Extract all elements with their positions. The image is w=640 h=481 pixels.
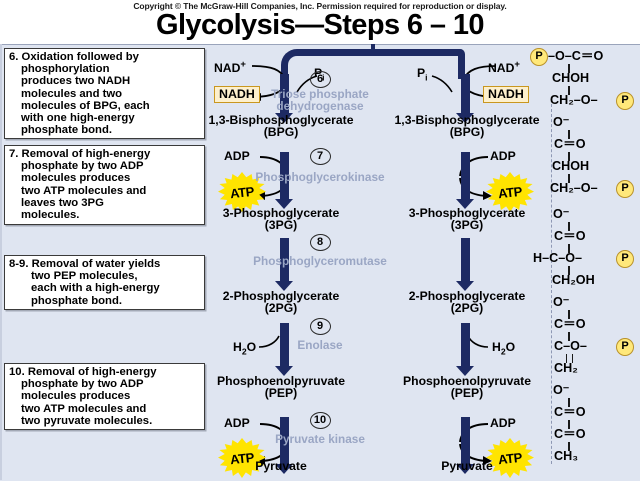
adp-step10-right: ADP — [490, 417, 516, 429]
step-number-9: 9 — [240, 316, 400, 335]
chemical-structures-column: P –O–C＝O CHOH CH₂–O– P O⁻ C＝O CHOH CH₂–O… — [528, 44, 640, 480]
metabolite-bpg-right: 1,3-Bisphosphoglycerate (BPG) — [382, 114, 552, 138]
pg3-row-4: CH₂–O– — [550, 182, 598, 195]
step-number-10: 10 — [240, 410, 400, 429]
step-number-7: 7 — [240, 146, 400, 165]
arrow-step9-right — [461, 323, 470, 367]
pyr-row-3: C＝O — [554, 428, 585, 441]
metabolite-bpg-left: 1,3-Bisphosphoglycerate (BPG) — [196, 114, 366, 138]
metabolite-3pg-right: 3-Phosphoglycerate (3PG) — [382, 207, 552, 231]
enzyme-label-8: Phosphoglyceromutase — [205, 255, 435, 267]
pg2-row-2: C＝O — [554, 230, 585, 243]
arrow-step6-right — [461, 74, 470, 114]
nadh-box-right: NADH — [483, 86, 529, 103]
enzyme-label-9: Enolase — [205, 339, 435, 351]
arrow-step10-right — [461, 417, 470, 465]
metabolite-3pg-left: 3-Phosphoglycerate (3PG) — [196, 207, 366, 231]
arrow-step7-right — [461, 152, 470, 200]
phosphate-icon: P — [616, 92, 634, 110]
glycolysis-diagram: Copyright © The McGraw-Hill Companies, I… — [0, 0, 640, 480]
phosphate-icon: P — [616, 180, 634, 198]
pg3-row-1: O⁻ — [553, 116, 569, 129]
phosphate-icon: P — [530, 48, 548, 66]
bpg-row-3: CH₂–O– — [550, 94, 598, 107]
enzyme-label-6: Triose phosphate dehydrogenase — [205, 88, 435, 112]
water-step9-right: H2O — [492, 341, 515, 356]
pyr-row-4: CH₃ — [554, 450, 578, 463]
pep-row-2: C＝O — [554, 318, 585, 331]
pg2-row-3: H–C–O– — [533, 252, 582, 265]
pep-row-4: CH₂ — [554, 362, 578, 375]
step-number-6: 6 — [240, 69, 400, 88]
pyr-row-2: C＝O — [554, 406, 585, 419]
nad-plus-right: NAD+ — [488, 60, 520, 74]
phosphate-icon: P — [616, 250, 634, 268]
phosphate-icon: P — [616, 338, 634, 356]
pep-row-3: C–O– — [554, 340, 587, 353]
adp-step7-right: ADP — [490, 150, 516, 162]
metabolite-pyruvate-right: Pyruvate — [382, 460, 552, 472]
pg3-row-2: C＝O — [554, 138, 585, 151]
metabolite-pep-left: Phosphoenolpyruvate (PEP) — [196, 375, 366, 399]
metabolite-2pg-right: 2-Phosphoglycerate (2PG) — [382, 290, 552, 314]
enzyme-label-10: Pyruvate kinase — [205, 433, 435, 445]
metabolite-2pg-left: 2-Phosphoglycerate (2PG) — [196, 290, 366, 314]
pi-right: Pi — [417, 67, 428, 82]
step-number-8: 8 — [240, 232, 400, 251]
bpg-row-2: CHOH — [552, 72, 589, 85]
pyr-row-1: O⁻ — [553, 384, 569, 397]
pg2-row-4: CH₂OH — [552, 274, 595, 287]
pg2-row-1: O⁻ — [553, 208, 569, 221]
arrow-step8-right — [461, 238, 470, 282]
metabolite-pep-right: Phosphoenolpyruvate (PEP) — [382, 375, 552, 399]
metabolite-pyruvate-left: Pyruvate — [196, 460, 366, 472]
pep-row-1: O⁻ — [553, 296, 569, 309]
bpg-row-1: –O–C＝O — [548, 50, 603, 63]
enzyme-label-7: Phosphoglycerokinase — [205, 171, 435, 183]
pg3-row-3: CHOH — [552, 160, 589, 173]
